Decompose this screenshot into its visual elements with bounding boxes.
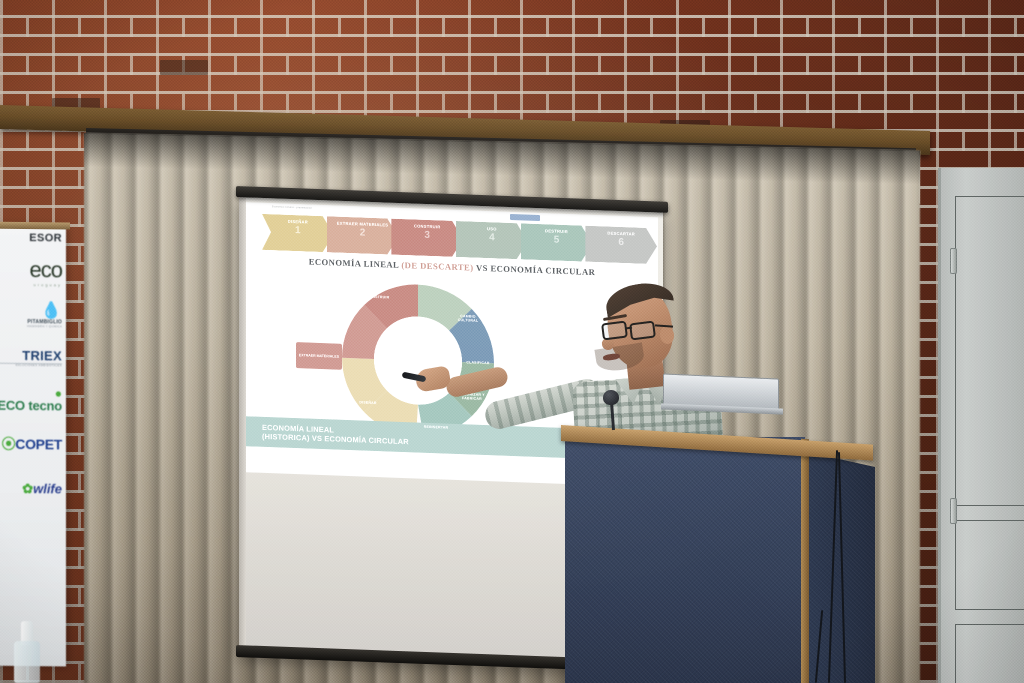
sponsor-heading: ESOR — [0, 232, 66, 245]
donut-segment-text: CONSTRUIR — [367, 295, 390, 300]
door-hinge — [950, 248, 957, 274]
hexagon-step-disenar: DISEÑAR 1 — [262, 214, 334, 253]
slide-title-highlight: (DE DESCARTE) — [401, 260, 473, 273]
donut-segment-text: REINSERTAR — [424, 425, 449, 430]
hexagon-number: 4 — [489, 232, 495, 244]
leaf-icon: ✿ — [22, 481, 33, 496]
sponsor-logo-copet: ⦿COPET — [0, 434, 66, 455]
sponsor-logo-ecotecno-text: ECO tecno — [0, 399, 62, 413]
sponsor-logo-copet-text: ⦿COPET — [2, 436, 62, 453]
donut-segment-text: CLASIFICAR — [466, 360, 489, 365]
hexagon-number: 3 — [424, 230, 430, 242]
hexagon-label: DISEÑAR — [288, 219, 308, 225]
glasses-lens-right — [629, 321, 656, 341]
hexagon-label: EXTRAER MATERIALES — [337, 221, 389, 228]
banner-hanging-rod — [0, 222, 70, 230]
sponsor-logo-eco-sub: uruguay — [0, 282, 62, 288]
door-panel — [955, 520, 1024, 610]
water-bottle — [14, 621, 40, 683]
hexagon-number: 5 — [554, 235, 560, 247]
hexagon-label: USO — [487, 226, 497, 231]
podium — [565, 425, 870, 683]
podium-front-face — [565, 437, 805, 683]
microphone-head — [603, 390, 619, 405]
slide-title-prefix: ECONOMÍA LINEAL — [309, 257, 402, 270]
sponsor-logo-eco: eco uruguay — [0, 258, 66, 288]
hexagon-step-construir: CONSTRUIR 3 — [391, 219, 463, 258]
hexagon-number: 1 — [295, 225, 301, 237]
donut-label-cambio-cultural: CAMBIO CULTURAL — [451, 314, 485, 324]
sponsor-logo-triex-text: TRIEX — [0, 348, 62, 364]
hexagon-step-extraer-materiales: EXTRAER MATERIALES 2 — [327, 216, 399, 255]
glasses-lens-left — [601, 321, 628, 341]
metal-door[interactable] — [938, 168, 1024, 683]
podium-edge-trim — [801, 439, 809, 683]
door-hinge — [950, 498, 957, 524]
sponsor-logo-triex: TRIEX SOLUCIONES AMBIENTALES — [0, 348, 66, 368]
sponsor-banner: ESOR eco uruguay 💧 PITAMBIGLIO INGENIERI… — [0, 226, 66, 667]
hexagon-number: 6 — [618, 237, 624, 249]
hexagon-step-destruir: DESTRUIR 5 — [521, 223, 593, 262]
donut-segment-text: CAMBIO CULTURAL — [458, 314, 478, 323]
podium-fabric-texture — [565, 437, 805, 683]
screen-side-bar — [239, 196, 246, 656]
slide-title-suffix: VS ECONOMÍA CIRCULAR — [474, 263, 596, 277]
donut-segment-text: USO — [446, 288, 454, 292]
sponsor-logo-ecotecno: ● ECO tecno — [0, 387, 66, 413]
donut-tab-text: EXTRAER MATERIALES — [299, 353, 339, 359]
slide-topbar-pill — [510, 214, 540, 221]
photo-scene: Economía circular - presentación DISEÑAR… — [0, 0, 1024, 683]
hexagon-step-uso: USO 4 — [456, 221, 528, 260]
donut-segment-text: DISEÑAR — [359, 400, 376, 405]
slide-topbar-note: Economía circular - presentación — [272, 206, 312, 209]
hexagon-number: 2 — [360, 227, 366, 239]
sponsor-logo-pitambiglio-sub: INGENIERIA Y QUIMICA — [0, 325, 62, 329]
sponsor-logo-newlife-text: ✿wlife — [22, 481, 62, 496]
door-panel — [955, 196, 1024, 506]
sponsor-logo-newlife: ✿wlife — [0, 480, 66, 499]
leaf-icon: ⦿ — [2, 436, 16, 452]
water-drop-icon: 💧 — [0, 301, 62, 320]
slide-footer-title-block: ECONOMÍA LINEAL (HISTORICA) VS ECONOMÍA … — [262, 423, 409, 446]
sponsor-logo-eco-text: eco — [0, 258, 62, 283]
bottle-body — [14, 641, 40, 683]
hexagon-step-descartar: DESCARTAR 6 — [585, 226, 657, 265]
donut-tab-extraer-materiales: EXTRAER MATERIALES — [296, 342, 342, 370]
sponsor-logo-pitambiglio: 💧 PITAMBIGLIO INGENIERIA Y QUIMICA — [0, 301, 66, 329]
hexagon-label: DESCARTAR — [607, 231, 635, 237]
door-panel — [955, 624, 1024, 683]
hexagon-label: CONSTRUIR — [414, 223, 441, 229]
hexagon-label: DESTRUIR — [545, 228, 568, 234]
